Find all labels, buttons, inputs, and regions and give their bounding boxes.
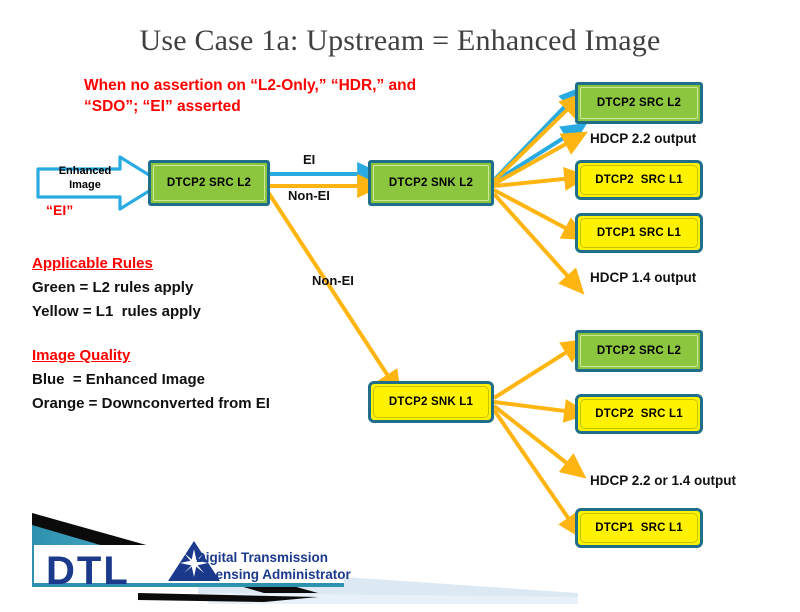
legend: Applicable Rules Green = L2 rules apply … bbox=[32, 255, 332, 419]
edge-snkl2-to-dtcp1srcl1 bbox=[494, 190, 573, 232]
node-label: DTCP2 SNK L1 bbox=[389, 396, 473, 408]
node-label: DTCP2 SRC L1 bbox=[595, 174, 683, 186]
node-lower-dtcp1-src-l1[interactable]: DTCP1 SRC L1 bbox=[575, 508, 703, 548]
node-label: DTCP2 SRC L1 bbox=[595, 408, 683, 420]
node-dtcp2-snk-l1[interactable]: DTCP2 SNK L1 bbox=[368, 381, 494, 423]
node-label: DTCP2 SRC L2 bbox=[167, 177, 251, 189]
node-label: DTCP2 SRC L2 bbox=[597, 345, 681, 357]
legend-row-blue: Blue = Enhanced Image bbox=[32, 371, 332, 388]
edge-snkl2-to-hdcp14 bbox=[494, 194, 573, 282]
dtla-tagline-line-2: Licensing Administrator bbox=[196, 567, 351, 584]
legend-image-quality-heading: Image Quality bbox=[32, 347, 332, 364]
dtla-logo: DTL Digital Transmission Licensing Admin… bbox=[18, 505, 578, 605]
legend-row-yellow: Yellow = L1 rules apply bbox=[32, 303, 332, 320]
dtla-wordmark: DTL bbox=[46, 551, 130, 591]
legend-applicable-rules-heading: Applicable Rules bbox=[32, 255, 332, 272]
note-hdcp-2-2-or-1-4-output: HDCP 2.2 or 1.4 output bbox=[590, 473, 736, 488]
node-label: DTCP1 SRC L1 bbox=[597, 227, 681, 239]
enhanced-image-line-1: Enhanced bbox=[48, 165, 122, 179]
enhanced-image-line-2: Image bbox=[48, 179, 122, 193]
edge-label-non-ei-top: Non-EI bbox=[288, 188, 330, 203]
dtla-tagline-line-1: Digital Transmission bbox=[196, 550, 351, 567]
node-upper-dtcp2-src-l2[interactable]: DTCP2 SRC L2 bbox=[575, 82, 703, 124]
dtla-tagline: Digital Transmission Licensing Administr… bbox=[196, 550, 351, 584]
note-hdcp-1-4-output: HDCP 1.4 output bbox=[590, 270, 696, 285]
edge-snkl1-to-hdcp bbox=[494, 406, 573, 468]
note-hdcp-2-2-output: HDCP 2.2 output bbox=[590, 131, 696, 146]
node-upper-dtcp1-src-l1[interactable]: DTCP1 SRC L1 bbox=[575, 213, 703, 253]
ei-quote-label: “EI” bbox=[46, 202, 73, 218]
enhanced-image-label: Enhanced Image bbox=[48, 165, 122, 193]
edge-snkl1-to-dtcp2srcl2 bbox=[494, 348, 573, 398]
node-dtcp2-snk-l2[interactable]: DTCP2 SNK L2 bbox=[368, 160, 494, 206]
node-upper-dtcp2-src-l1[interactable]: DTCP2 SRC L1 bbox=[575, 160, 703, 200]
node-lower-dtcp2-src-l1[interactable]: DTCP2 SRC L1 bbox=[575, 394, 703, 434]
legend-row-green: Green = L2 rules apply bbox=[32, 279, 332, 296]
node-label: DTCP1 SRC L1 bbox=[595, 522, 683, 534]
edge-snkl2-orange-1 bbox=[494, 104, 573, 181]
slide-canvas: Use Case 1a: Upstream = Enhanced Image W… bbox=[0, 0, 800, 612]
node-dtcp2-src-l2-source[interactable]: DTCP2 SRC L2 bbox=[148, 160, 270, 206]
node-label: DTCP2 SRC L2 bbox=[597, 97, 681, 109]
legend-spacer bbox=[32, 327, 332, 347]
node-label: DTCP2 SNK L2 bbox=[389, 177, 473, 189]
legend-row-orange: Orange = Downconverted from EI bbox=[32, 395, 332, 412]
edge-label-ei: EI bbox=[303, 152, 315, 167]
edge-snkl1-to-dtcp2srcl1 bbox=[494, 402, 573, 412]
node-lower-dtcp2-src-l2[interactable]: DTCP2 SRC L2 bbox=[575, 330, 703, 372]
